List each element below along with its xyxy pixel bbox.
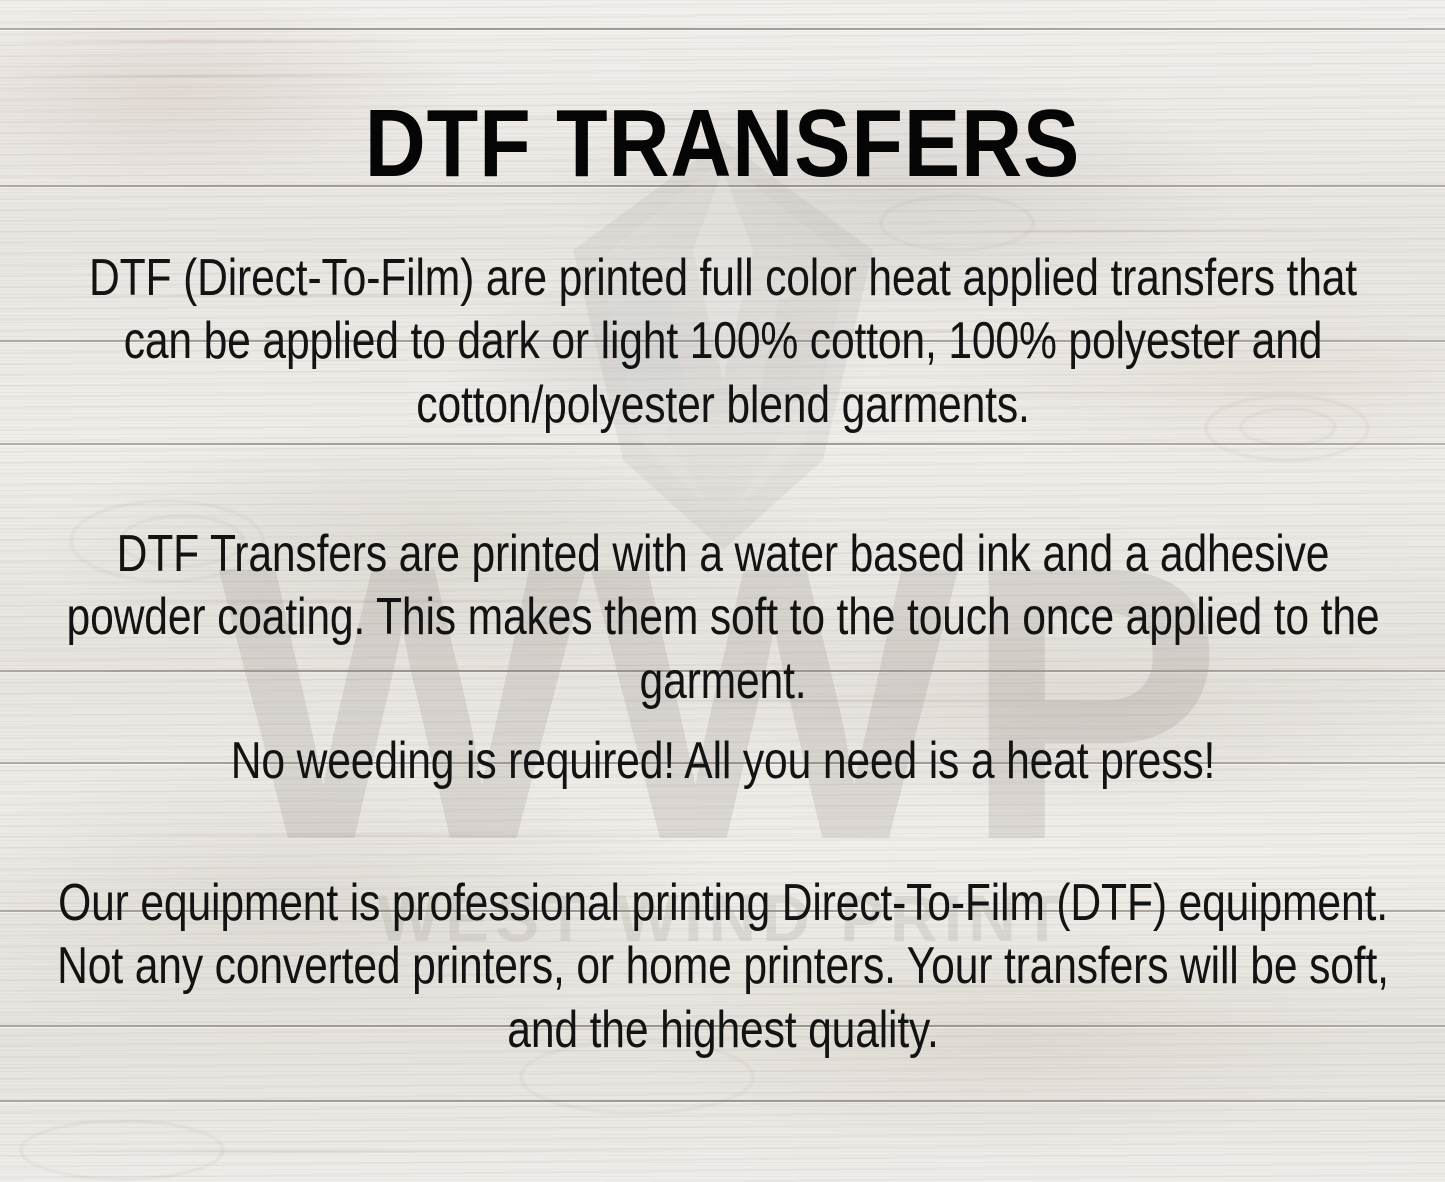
paragraph-what-is-dtf: DTF (Direct-To-Film) are printed full co… (54, 247, 1391, 437)
paragraph-no-weeding: No weeding is required! All you need is … (54, 730, 1391, 793)
paragraph-equipment: Our equipment is professional printing D… (54, 872, 1391, 1062)
product-info-graphic: WWP WEST WIND PRINT DTF TRANSFERS DTF (D… (0, 0, 1445, 1182)
paragraph-ink-and-powder: DTF Transfers are printed with a water b… (54, 523, 1391, 713)
page-title: DTF TRANSFERS (87, 96, 1359, 192)
content-layer: DTF TRANSFERS DTF (Direct-To-Film) are p… (0, 0, 1445, 1182)
